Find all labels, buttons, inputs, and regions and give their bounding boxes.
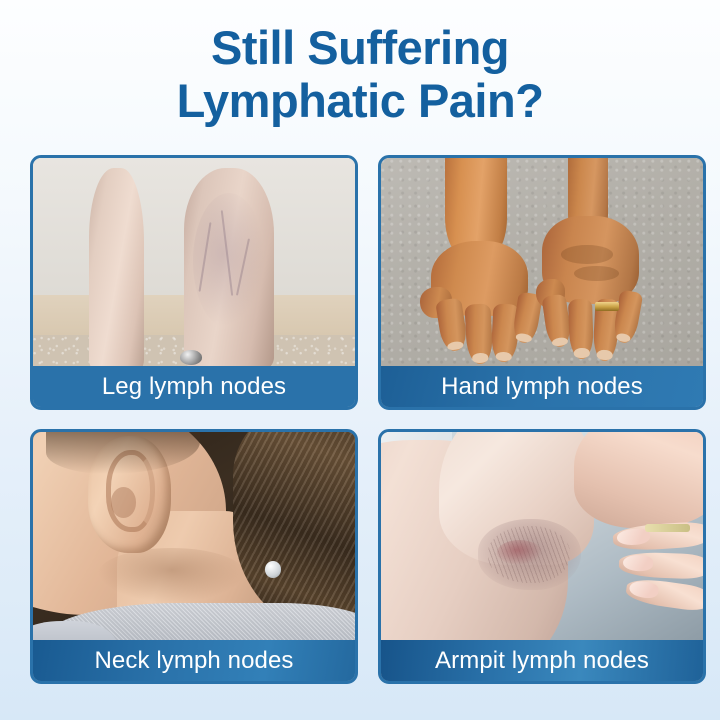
hand-lymph-nodes-photo	[381, 158, 703, 366]
card-hand-lymph-nodes[interactable]: Hand lymph nodes	[378, 155, 706, 410]
card-caption-leg: Leg lymph nodes	[33, 366, 355, 407]
neck-lymph-nodes-photo	[33, 432, 355, 640]
armpit-lymph-nodes-photo	[381, 432, 703, 640]
tendon-shadow	[561, 245, 613, 264]
card-leg-lymph-nodes[interactable]: Leg lymph nodes	[30, 155, 358, 410]
fingernail	[629, 580, 659, 599]
wedding-ring	[595, 302, 619, 311]
page-title-line-1: Still Suffering	[0, 22, 720, 75]
vein-mark	[236, 239, 250, 296]
examining-hand	[574, 432, 703, 528]
normal-leg	[89, 168, 144, 366]
floor-drain	[180, 350, 203, 365]
ear-lobe	[111, 487, 136, 517]
fingernail	[623, 555, 654, 572]
page-title-line-2: Lymphatic Pain?	[0, 75, 720, 128]
lymph-node-card-grid: Leg lymph nodes Hand lymph nodes	[30, 155, 706, 684]
swollen-leg	[184, 168, 274, 366]
vein-mark	[221, 210, 234, 296]
card-caption-neck: Neck lymph nodes	[33, 640, 355, 681]
examination-tool	[645, 524, 690, 532]
card-neck-lymph-nodes[interactable]: Neck lymph nodes	[30, 429, 358, 684]
leg-lymph-nodes-photo	[33, 158, 355, 366]
vein-mark	[199, 222, 212, 291]
card-caption-hand: Hand lymph nodes	[381, 366, 703, 407]
card-caption-armpit: Armpit lymph nodes	[381, 640, 703, 681]
jaw-shadow	[97, 548, 245, 602]
earring	[265, 561, 281, 578]
card-armpit-lymph-nodes[interactable]: Armpit lymph nodes	[378, 429, 706, 684]
tendon-shadow	[574, 266, 619, 281]
swollen-lymph-node	[497, 540, 542, 565]
page-title: Still Suffering Lymphatic Pain?	[0, 0, 720, 127]
